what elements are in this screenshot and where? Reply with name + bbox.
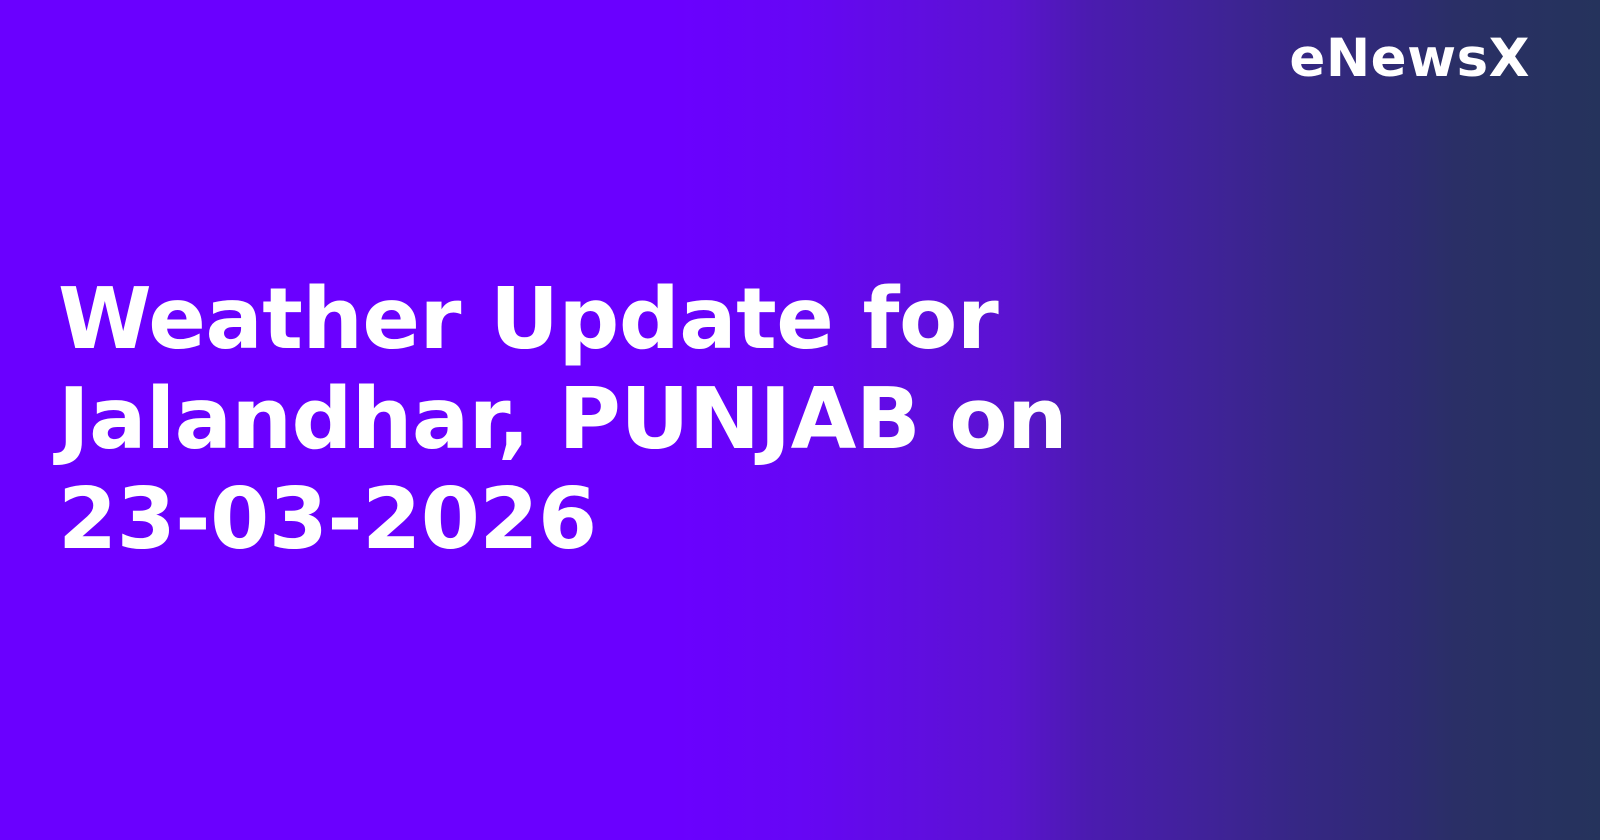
news-banner-card: eNewsX Weather Update for Jalandhar, PUN… [0, 0, 1600, 840]
brand-logo[interactable]: eNewsX [1289, 30, 1530, 88]
headline-container: Weather Update for Jalandhar, PUNJAB on … [58, 0, 1118, 840]
page-title: Weather Update for Jalandhar, PUNJAB on … [58, 270, 1118, 570]
